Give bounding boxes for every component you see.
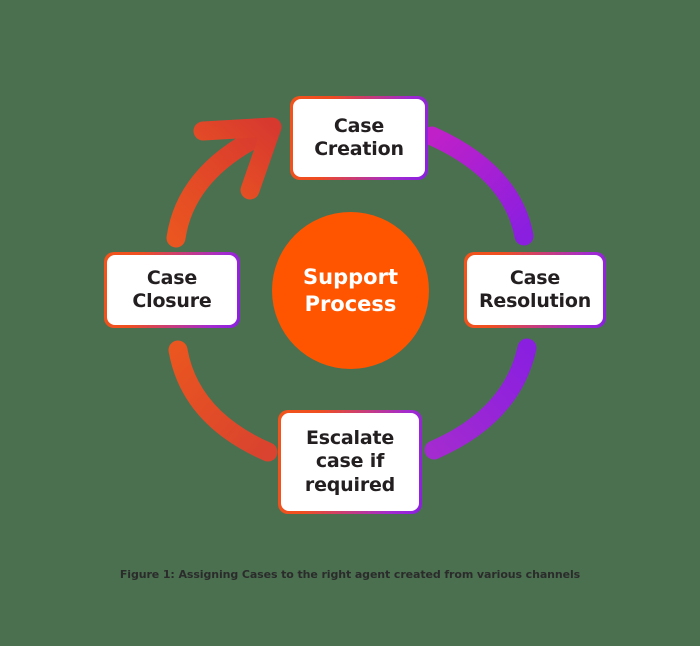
node-case-closure-inner: Case Closure [107, 255, 237, 325]
node-case-creation-label: Case Creation [314, 115, 404, 161]
node-escalate-case[interactable]: Escalate case if required [278, 410, 422, 514]
node-case-resolution[interactable]: Case Resolution [464, 252, 606, 328]
node-case-resolution-inner: Case Resolution [467, 255, 603, 325]
support-process-cycle-diagram: Case Creation Case Resolution Escalate c… [0, 0, 700, 646]
connector-creation-to-resolution [432, 136, 524, 236]
node-escalate-case-label: Escalate case if required [305, 427, 395, 497]
node-escalate-case-inner: Escalate case if required [281, 413, 419, 511]
node-case-closure-label: Case Closure [132, 267, 211, 313]
figure-caption: Figure 1: Assigning Cases to the right a… [0, 568, 700, 581]
node-case-resolution-label: Case Resolution [479, 267, 591, 313]
node-case-closure[interactable]: Case Closure [104, 252, 240, 328]
connector-escalate-to-closure [178, 350, 268, 452]
center-support-process-circle: Support Process [272, 212, 429, 369]
node-case-creation[interactable]: Case Creation [290, 96, 428, 180]
center-support-process-label: Support Process [303, 264, 398, 316]
connector-resolution-to-escalate [434, 348, 527, 450]
node-case-creation-inner: Case Creation [293, 99, 425, 177]
